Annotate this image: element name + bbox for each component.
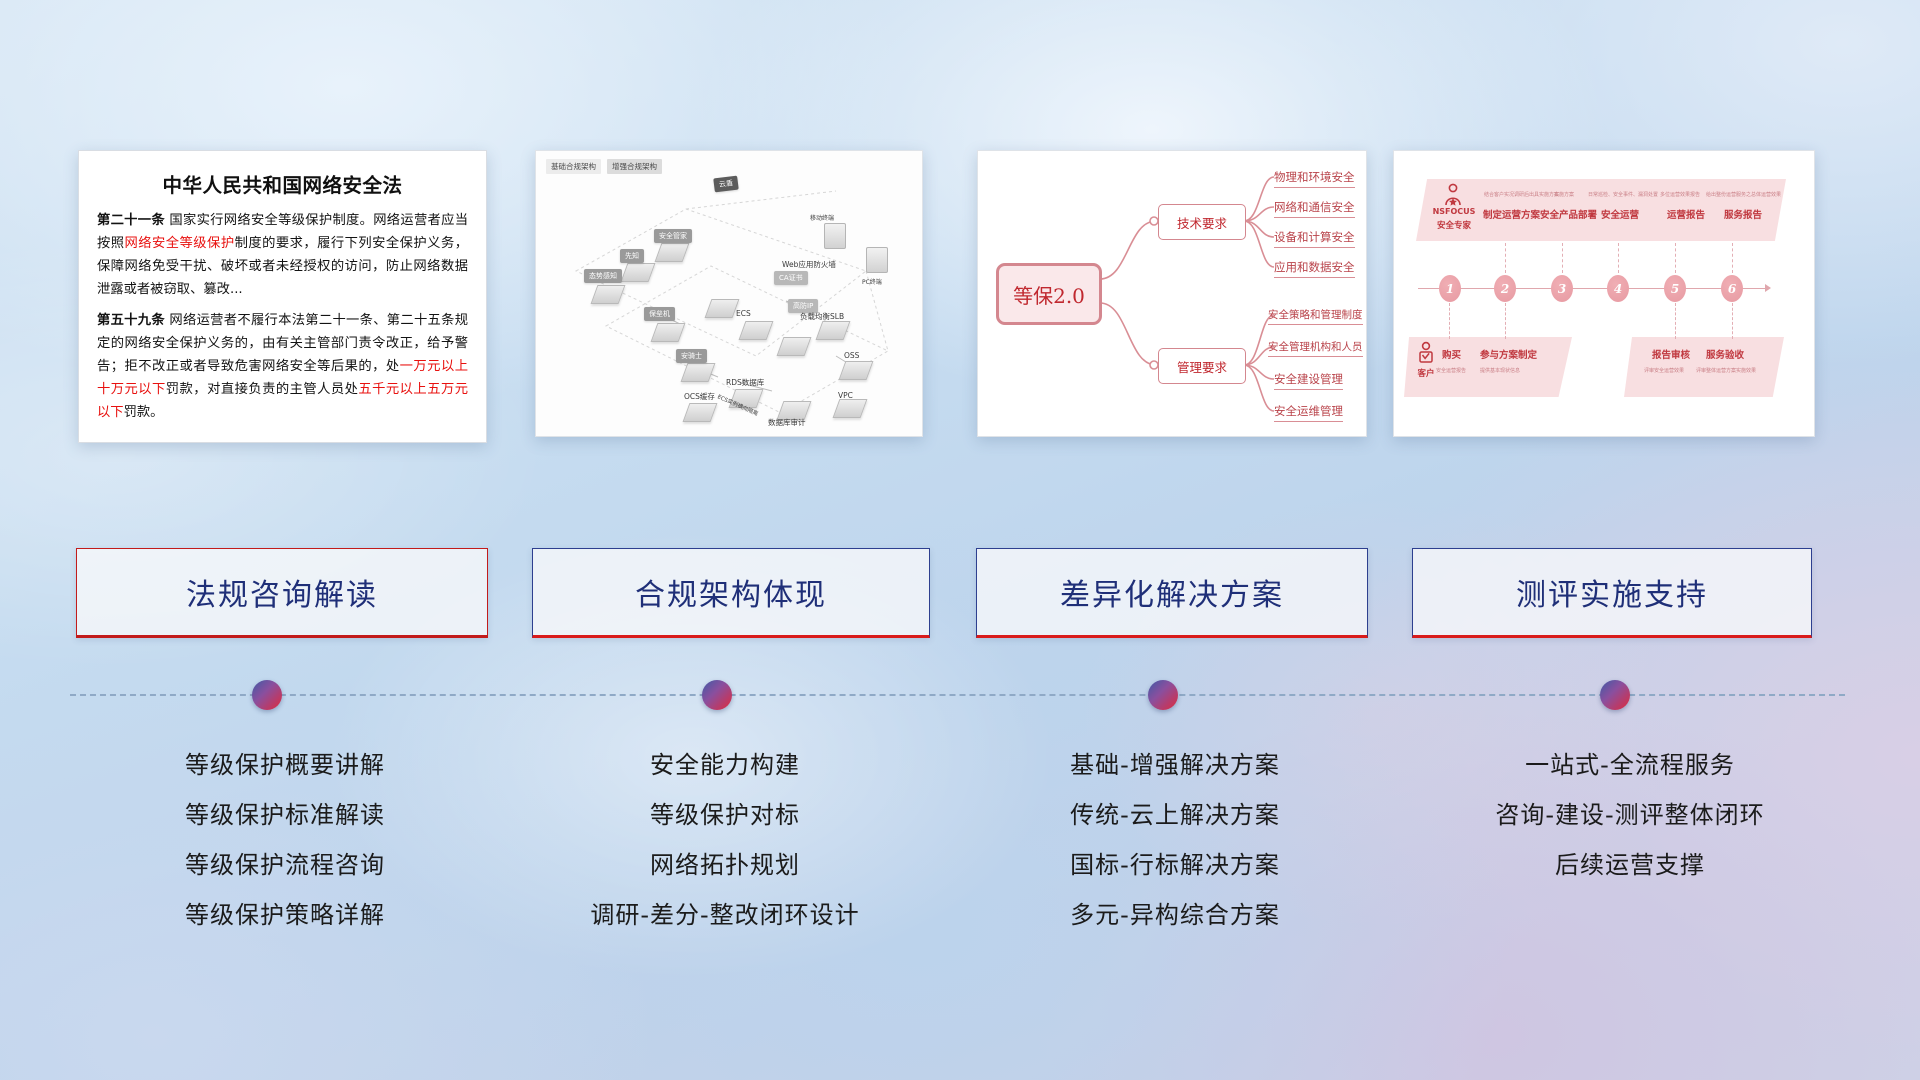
- customer-step-2-sub: 提供基本现状信息: [1480, 367, 1520, 374]
- step-5-sub: 多位运营效果报告: [1660, 191, 1700, 198]
- customer-step-1-sub: 安全运营报告: [1436, 367, 1466, 374]
- timeline-node-4: 4: [1607, 275, 1629, 302]
- label-waf: Web应用防火墙: [782, 259, 836, 270]
- label-vpc: VPC: [838, 391, 853, 400]
- mindmap-branch-technical: 技术要求: [1158, 204, 1246, 240]
- card-compliance-architecture: 基础合规架构 增强合规架构: [535, 150, 923, 437]
- step-2-sub: 结合客户实况调研后出具实施方案: [1484, 191, 1559, 198]
- lead-line-5: [1675, 243, 1676, 273]
- detail-item: 等级保护策略详解: [60, 890, 510, 940]
- lead-line-2: [1505, 243, 1506, 273]
- customer-step-2-title: 参与方案制定: [1480, 347, 1537, 361]
- detail-item: 等级保护标准解读: [60, 790, 510, 840]
- law-text-body: 中华人民共和国网络安全法 第二十一条 国家实行网络安全等级保护制度。网络运营者应…: [79, 151, 486, 442]
- lead-line-c3: [1675, 303, 1676, 339]
- detail-item: 多元-异构综合方案: [945, 890, 1405, 940]
- title-label-1: 法规咨询解读: [186, 570, 378, 614]
- timeline-marker-2: [702, 680, 732, 710]
- lead-line-c2: [1505, 303, 1506, 339]
- detail-item: 等级保护流程咨询: [60, 840, 510, 890]
- mindmap-root: 等保2.0: [996, 263, 1102, 325]
- timeline-marker-3: [1148, 680, 1178, 710]
- mindmap-leaf-device-computing: 设备和计算安全: [1274, 229, 1355, 248]
- title-label-3: 差异化解决方案: [1060, 570, 1284, 614]
- mindmap-leaf-physical-environment: 物理和环境安全: [1274, 169, 1355, 188]
- timeline-node-1: 1: [1439, 275, 1461, 302]
- label-pc-terminal: PC终端: [862, 277, 882, 286]
- service-timeline: NSFOCUS 安全专家 客户 1 2 3 4 5 6: [1394, 151, 1814, 436]
- title-box-regulation-consulting[interactable]: 法规咨询解读: [76, 548, 488, 638]
- title-label-2: 合规架构体现: [635, 570, 827, 614]
- step-4-title: 安全运营: [1601, 207, 1639, 221]
- card-cybersecurity-law: 中华人民共和国网络安全法 第二十一条 国家实行网络安全等级保护制度。网络运营者应…: [78, 150, 487, 443]
- label-ecs: ECS: [736, 309, 751, 318]
- lead-line-c1: [1449, 303, 1450, 339]
- lead-line-3: [1562, 243, 1563, 273]
- article-21-highlight: 网络安全等级保护: [125, 236, 235, 251]
- article-21-label: 第二十一条: [97, 213, 165, 228]
- mindmap-leaf-application-data: 应用和数据安全: [1274, 259, 1355, 278]
- section-title-row: 法规咨询解读 合规架构体现 差异化解决方案 测评实施支持: [0, 548, 1920, 644]
- customer-step-3-title: 报告审核: [1652, 347, 1690, 361]
- node-bastion-host: 保垒机: [644, 307, 675, 321]
- label-mobile-terminal: 移动终端: [810, 213, 834, 222]
- slide-stage: 中华人民共和国网络安全法 第二十一条 国家实行网络安全等级保护制度。网络运营者应…: [0, 0, 1920, 1080]
- detail-item: 安全能力构建: [500, 740, 950, 790]
- article-59-label: 第五十九条: [97, 313, 165, 328]
- law-title: 中华人民共和国网络安全法: [97, 169, 468, 198]
- progress-timeline-line: [70, 694, 1845, 698]
- node-ca-cert: CA证书: [774, 271, 808, 285]
- mindmap-branch-management: 管理要求: [1158, 348, 1246, 384]
- card-dengbao-mindmap: 等保2.0 技术要求 管理要求 物理和环境安全 网络和通信安全 设备和计算安全 …: [977, 150, 1367, 437]
- detail-item: 等级保护概要讲解: [60, 740, 510, 790]
- node-xianzhi: 先知: [620, 249, 644, 263]
- detail-column-1: 等级保护概要讲解 等级保护标准解读 等级保护流程咨询 等级保护策略详解: [60, 740, 510, 940]
- server-mobile-terminal: [824, 223, 846, 249]
- detail-item: 网络拓扑规划: [500, 840, 950, 890]
- detail-columns: 等级保护概要讲解 等级保护标准解读 等级保护流程咨询 等级保护策略详解 安全能力…: [0, 740, 1920, 1020]
- illustration-card-row: 中华人民共和国网络安全法 第二十一条 国家实行网络安全等级保护制度。网络运营者应…: [0, 150, 1920, 450]
- timeline-node-6: 6: [1721, 275, 1743, 302]
- customer-step-1-title: 购买: [1442, 347, 1461, 361]
- label-rds: RDS数据库: [726, 377, 764, 388]
- title-box-compliance-architecture[interactable]: 合规架构体现: [532, 548, 930, 638]
- detail-column-2: 安全能力构建 等级保护对标 网络拓扑规划 调研-差分-整改闭环设计: [500, 740, 950, 940]
- mindmap: 等保2.0 技术要求 管理要求 物理和环境安全 网络和通信安全 设备和计算安全 …: [978, 151, 1366, 436]
- detail-item: 国标-行标解决方案: [945, 840, 1405, 890]
- detail-item: 一站式-全流程服务: [1400, 740, 1860, 790]
- lead-line-6: [1732, 243, 1733, 273]
- timeline-node-5: 5: [1664, 275, 1686, 302]
- expert-role-name: NSFOCUS: [1428, 207, 1480, 216]
- law-article-21: 第二十一条 国家实行网络安全等级保护制度。网络运营者应当按照网络安全等级保护制度…: [97, 210, 468, 301]
- node-anqishi: 安骑士: [676, 349, 707, 363]
- step-2-title: 制定运营方案: [1483, 207, 1540, 221]
- step-6-sub: 给出整份运营服务之总体运营效果: [1706, 191, 1781, 198]
- card-service-timeline: NSFOCUS 安全专家 客户 1 2 3 4 5 6: [1393, 150, 1815, 437]
- article-59-text-b: 罚款，对直接负责的主管人员处: [166, 382, 359, 397]
- lead-line-4: [1618, 243, 1619, 273]
- timeline-arrow-icon: [1765, 284, 1771, 292]
- lead-line-c4: [1732, 303, 1733, 339]
- detail-item: 基础-增强解决方案: [945, 740, 1405, 790]
- step-3-sub: 实施方案: [1554, 191, 1574, 198]
- step-4-sub: 日常巡检、安全事件、漏洞处置: [1588, 191, 1658, 198]
- server-pc-terminal: [866, 247, 888, 273]
- title-box-assessment-support[interactable]: 测评实施支持: [1412, 548, 1812, 638]
- mindmap-leaf-ops-mgmt: 安全运维管理: [1274, 403, 1343, 422]
- detail-item: 传统-云上解决方案: [945, 790, 1405, 840]
- detail-item: 后续运营支撑: [1400, 840, 1860, 890]
- step-6-title: 服务报告: [1724, 207, 1762, 221]
- timeline-marker-1: [252, 680, 282, 710]
- timeline-axis: [1418, 288, 1768, 289]
- detail-item: 咨询-建设-测评整体闭环: [1400, 790, 1860, 840]
- customer-person-icon: [1416, 341, 1436, 365]
- detail-item: 等级保护对标: [500, 790, 950, 840]
- expert-person-icon: [1442, 183, 1464, 207]
- timeline-marker-4: [1600, 680, 1630, 710]
- node-security-butler: 安全管家: [654, 229, 692, 243]
- detail-column-4: 一站式-全流程服务 咨询-建设-测评整体闭环 后续运营支撑: [1400, 740, 1860, 890]
- architecture-diagram: 基础合规架构 增强合规架构: [536, 151, 922, 436]
- mindmap-leaf-construction-mgmt: 安全建设管理: [1274, 371, 1343, 390]
- detail-column-3: 基础-增强解决方案 传统-云上解决方案 国标-行标解决方案 多元-异构综合方案: [945, 740, 1405, 940]
- step-3-title: 安全产品部署: [1540, 207, 1597, 221]
- article-59-text-c: 罚款。: [124, 405, 164, 420]
- label-db-audit: 数据库审计: [768, 417, 806, 428]
- label-oss: OSS: [844, 351, 859, 360]
- title-label-4: 测评实施支持: [1516, 570, 1708, 614]
- label-ocs-cache: OCS缓存: [684, 391, 715, 402]
- node-situation-awareness: 态势感知: [584, 269, 622, 283]
- customer-step-3-sub: 评审安全运营效果: [1644, 367, 1684, 374]
- step-5-title: 运营报告: [1667, 207, 1705, 221]
- customer-step-4-sub: 评审整体运营方案实施效果: [1696, 367, 1756, 374]
- mindmap-leaf-network-communication: 网络和通信安全: [1274, 199, 1355, 218]
- mindmap-leaf-security-policy: 安全策略和管理制度: [1268, 307, 1363, 325]
- timeline-node-3: 3: [1551, 275, 1573, 302]
- law-article-59: 第五十九条 网络运营者不履行本法第二十一条、第二十五条规定的网络安全保护义务的，…: [97, 310, 468, 424]
- timeline-node-2: 2: [1494, 275, 1516, 302]
- label-slb: 负载均衡SLB: [800, 311, 844, 322]
- customer-step-4-title: 服务验收: [1706, 347, 1744, 361]
- title-box-differentiated-solution[interactable]: 差异化解决方案: [976, 548, 1368, 638]
- detail-item: 调研-差分-整改闭环设计: [500, 890, 950, 940]
- mindmap-leaf-org-personnel: 安全管理机构和人员: [1268, 339, 1363, 357]
- expert-role-sub: 安全专家: [1428, 219, 1480, 231]
- node-yundun: 云盾: [713, 176, 739, 193]
